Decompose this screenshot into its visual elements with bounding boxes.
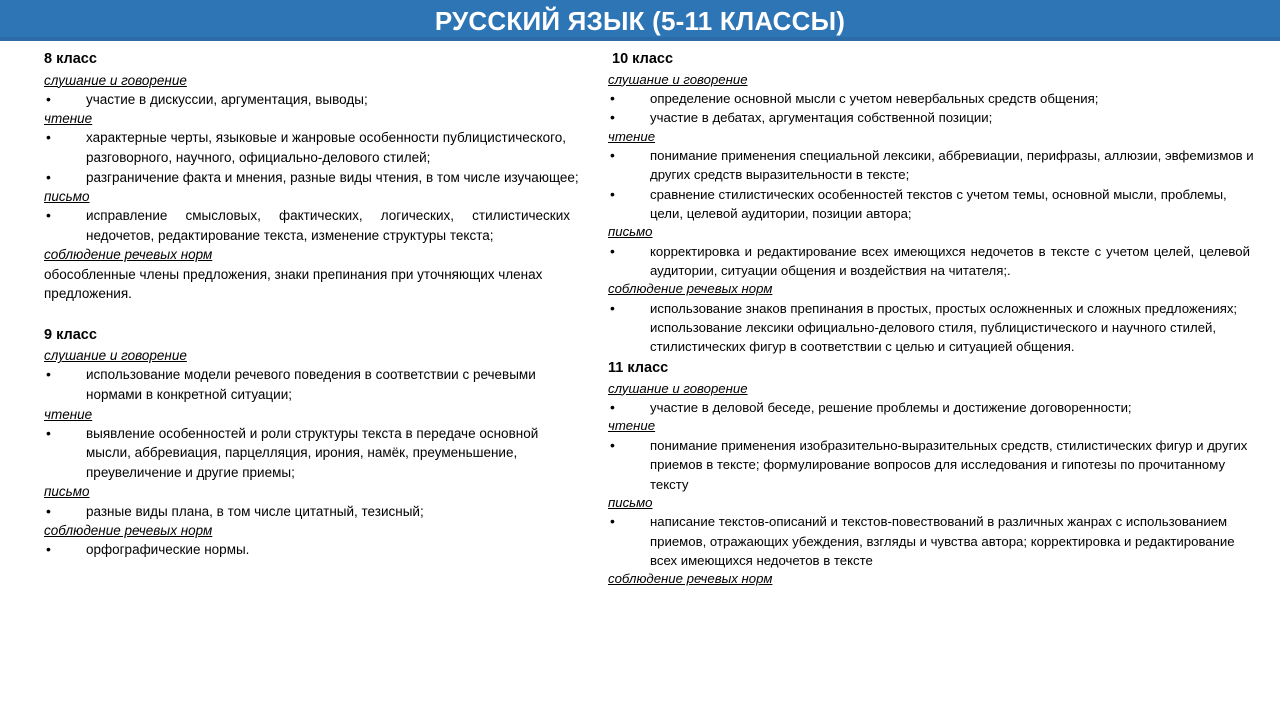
list-item: понимание применения специальной лексики…	[608, 146, 1256, 184]
document-page: РУССКИЙ ЯЗЫК (5-11 КЛАССЫ) 8 класс слуша…	[0, 0, 1280, 720]
subhead-speech-norms-8: соблюдение речевых норм	[44, 245, 212, 264]
subhead-speech-norms-8-wrap: соблюдение речевых норм	[44, 245, 584, 264]
list-item: участие в дискуссии, аргументация, вывод…	[44, 90, 584, 110]
list-item: понимание применения изобразительно-выра…	[608, 436, 1256, 493]
subhead-reading-11: чтение	[608, 417, 655, 436]
list-speech-norms-9: орфографические нормы.	[44, 540, 584, 560]
subhead-reading-10: чтение	[608, 128, 655, 147]
grade-heading-8: 8 класс	[44, 50, 584, 70]
list-reading-8: характерные черты, языковые и жанровые о…	[44, 128, 584, 187]
grade-block-8: 8 класс слушание и говорение участие в д…	[44, 50, 584, 304]
subhead-writing-10: письмо	[608, 223, 653, 242]
list-item: разграничение факта и мнения, разные вид…	[44, 168, 584, 188]
grade-block-9: 9 класс слушание и говорение использован…	[44, 326, 584, 560]
list-writing-8: исправление смысловых, фактических, логи…	[44, 206, 584, 245]
grade-block-10: 10 класс слушание и говорение определени…	[608, 50, 1256, 356]
subhead-listening-speaking-9: слушание и говорение	[44, 346, 187, 365]
subhead-listening-speaking-9-wrap: слушание и говорение	[44, 346, 584, 365]
subhead-speech-norms-10: соблюдение речевых норм	[608, 280, 772, 299]
list-item: корректировка и редактирование всех имею…	[608, 242, 1256, 280]
subhead-reading-8-wrap: чтение	[44, 109, 584, 128]
list-writing-11: написание текстов-описаний и текстов-пов…	[608, 512, 1256, 569]
list-reading-11: понимание применения изобразительно-выра…	[608, 436, 1256, 493]
subhead-listening-speaking-10-wrap: слушание и говорение	[608, 71, 1256, 90]
list-item: исправление смысловых, фактических, логи…	[44, 206, 584, 245]
content-columns: 8 класс слушание и говорение участие в д…	[0, 41, 1280, 720]
subhead-reading-10-wrap: чтение	[608, 128, 1256, 147]
grade-heading-11: 11 класс	[608, 359, 1256, 379]
subhead-writing-11: письмо	[608, 494, 653, 513]
list-item: использование знаков препинания в просты…	[608, 299, 1256, 356]
list-item: характерные черты, языковые и жанровые о…	[44, 128, 584, 167]
subhead-listening-speaking-8: слушание и говорение	[44, 71, 187, 90]
list-item: разные виды плана, в том числе цитатный,…	[44, 502, 584, 522]
list-item: написание текстов-описаний и текстов-пов…	[608, 512, 1256, 569]
subhead-listening-speaking-10: слушание и говорение	[608, 71, 748, 90]
list-item: участие в дебатах, аргументация собствен…	[608, 108, 1256, 127]
subhead-writing-10-wrap: письмо	[608, 223, 1256, 242]
subhead-writing-11-wrap: письмо	[608, 494, 1256, 513]
right-column: 10 класс слушание и говорение определени…	[600, 50, 1280, 589]
subhead-speech-norms-11-wrap: соблюдение речевых норм	[608, 570, 1256, 589]
list-item: определение основной мысли с учетом неве…	[608, 89, 1256, 108]
list-writing-9: разные виды плана, в том числе цитатный,…	[44, 502, 584, 522]
list-reading-9: выявление особенностей и роли структуры …	[44, 424, 584, 483]
grade-block-11: 11 класс слушание и говорение участие в …	[608, 359, 1256, 588]
subhead-writing-8: письмо	[44, 187, 90, 206]
list-item: участие в деловой беседе, решение пробле…	[608, 398, 1256, 417]
list-item: сравнение стилистических особенностей те…	[608, 185, 1256, 223]
subhead-listening-speaking-11-wrap: слушание и говорение	[608, 380, 1256, 399]
subhead-writing-9: письмо	[44, 482, 90, 501]
speech-norms-text-8: обособленные члены предложения, знаки пр…	[44, 265, 584, 304]
left-column: 8 класс слушание и говорение участие в д…	[0, 50, 600, 560]
subhead-listening-speaking-11: слушание и говорение	[608, 380, 748, 399]
list-item: орфографические нормы.	[44, 540, 584, 560]
list-listening-speaking-8: участие в дискуссии, аргументация, вывод…	[44, 90, 584, 110]
subhead-speech-norms-9: соблюдение речевых норм	[44, 521, 212, 540]
subhead-listening-speaking-8-wrap: слушание и говорение	[44, 71, 584, 90]
subhead-speech-norms-11: соблюдение речевых норм	[608, 570, 772, 589]
list-listening-speaking-9: использование модели речевого поведения …	[44, 365, 584, 404]
grade-heading-10: 10 класс	[608, 50, 1256, 70]
list-speech-norms-10: использование знаков препинания в просты…	[608, 299, 1256, 356]
subhead-reading-11-wrap: чтение	[608, 417, 1256, 436]
subhead-speech-norms-9-wrap: соблюдение речевых норм	[44, 521, 584, 540]
grade-heading-9: 9 класс	[44, 326, 584, 346]
list-listening-speaking-10: определение основной мысли с учетом неве…	[608, 89, 1256, 127]
page-header-banner: РУССКИЙ ЯЗЫК (5-11 КЛАССЫ)	[0, 0, 1280, 41]
subhead-reading-9-wrap: чтение	[44, 405, 584, 424]
list-writing-10: корректировка и редактирование всех имею…	[608, 242, 1256, 280]
list-listening-speaking-11: участие в деловой беседе, решение пробле…	[608, 398, 1256, 417]
subhead-writing-8-wrap: письмо	[44, 187, 584, 206]
subhead-reading-9: чтение	[44, 405, 92, 424]
list-item: использование модели речевого поведения …	[44, 365, 584, 404]
list-reading-10: понимание применения специальной лексики…	[608, 146, 1256, 223]
subhead-reading-8: чтение	[44, 109, 92, 128]
subhead-writing-9-wrap: письмо	[44, 482, 584, 501]
list-item: выявление особенностей и роли структуры …	[44, 424, 584, 483]
subhead-speech-norms-10-wrap: соблюдение речевых норм	[608, 280, 1256, 299]
page-title: РУССКИЙ ЯЗЫК (5-11 КЛАССЫ)	[435, 8, 845, 34]
